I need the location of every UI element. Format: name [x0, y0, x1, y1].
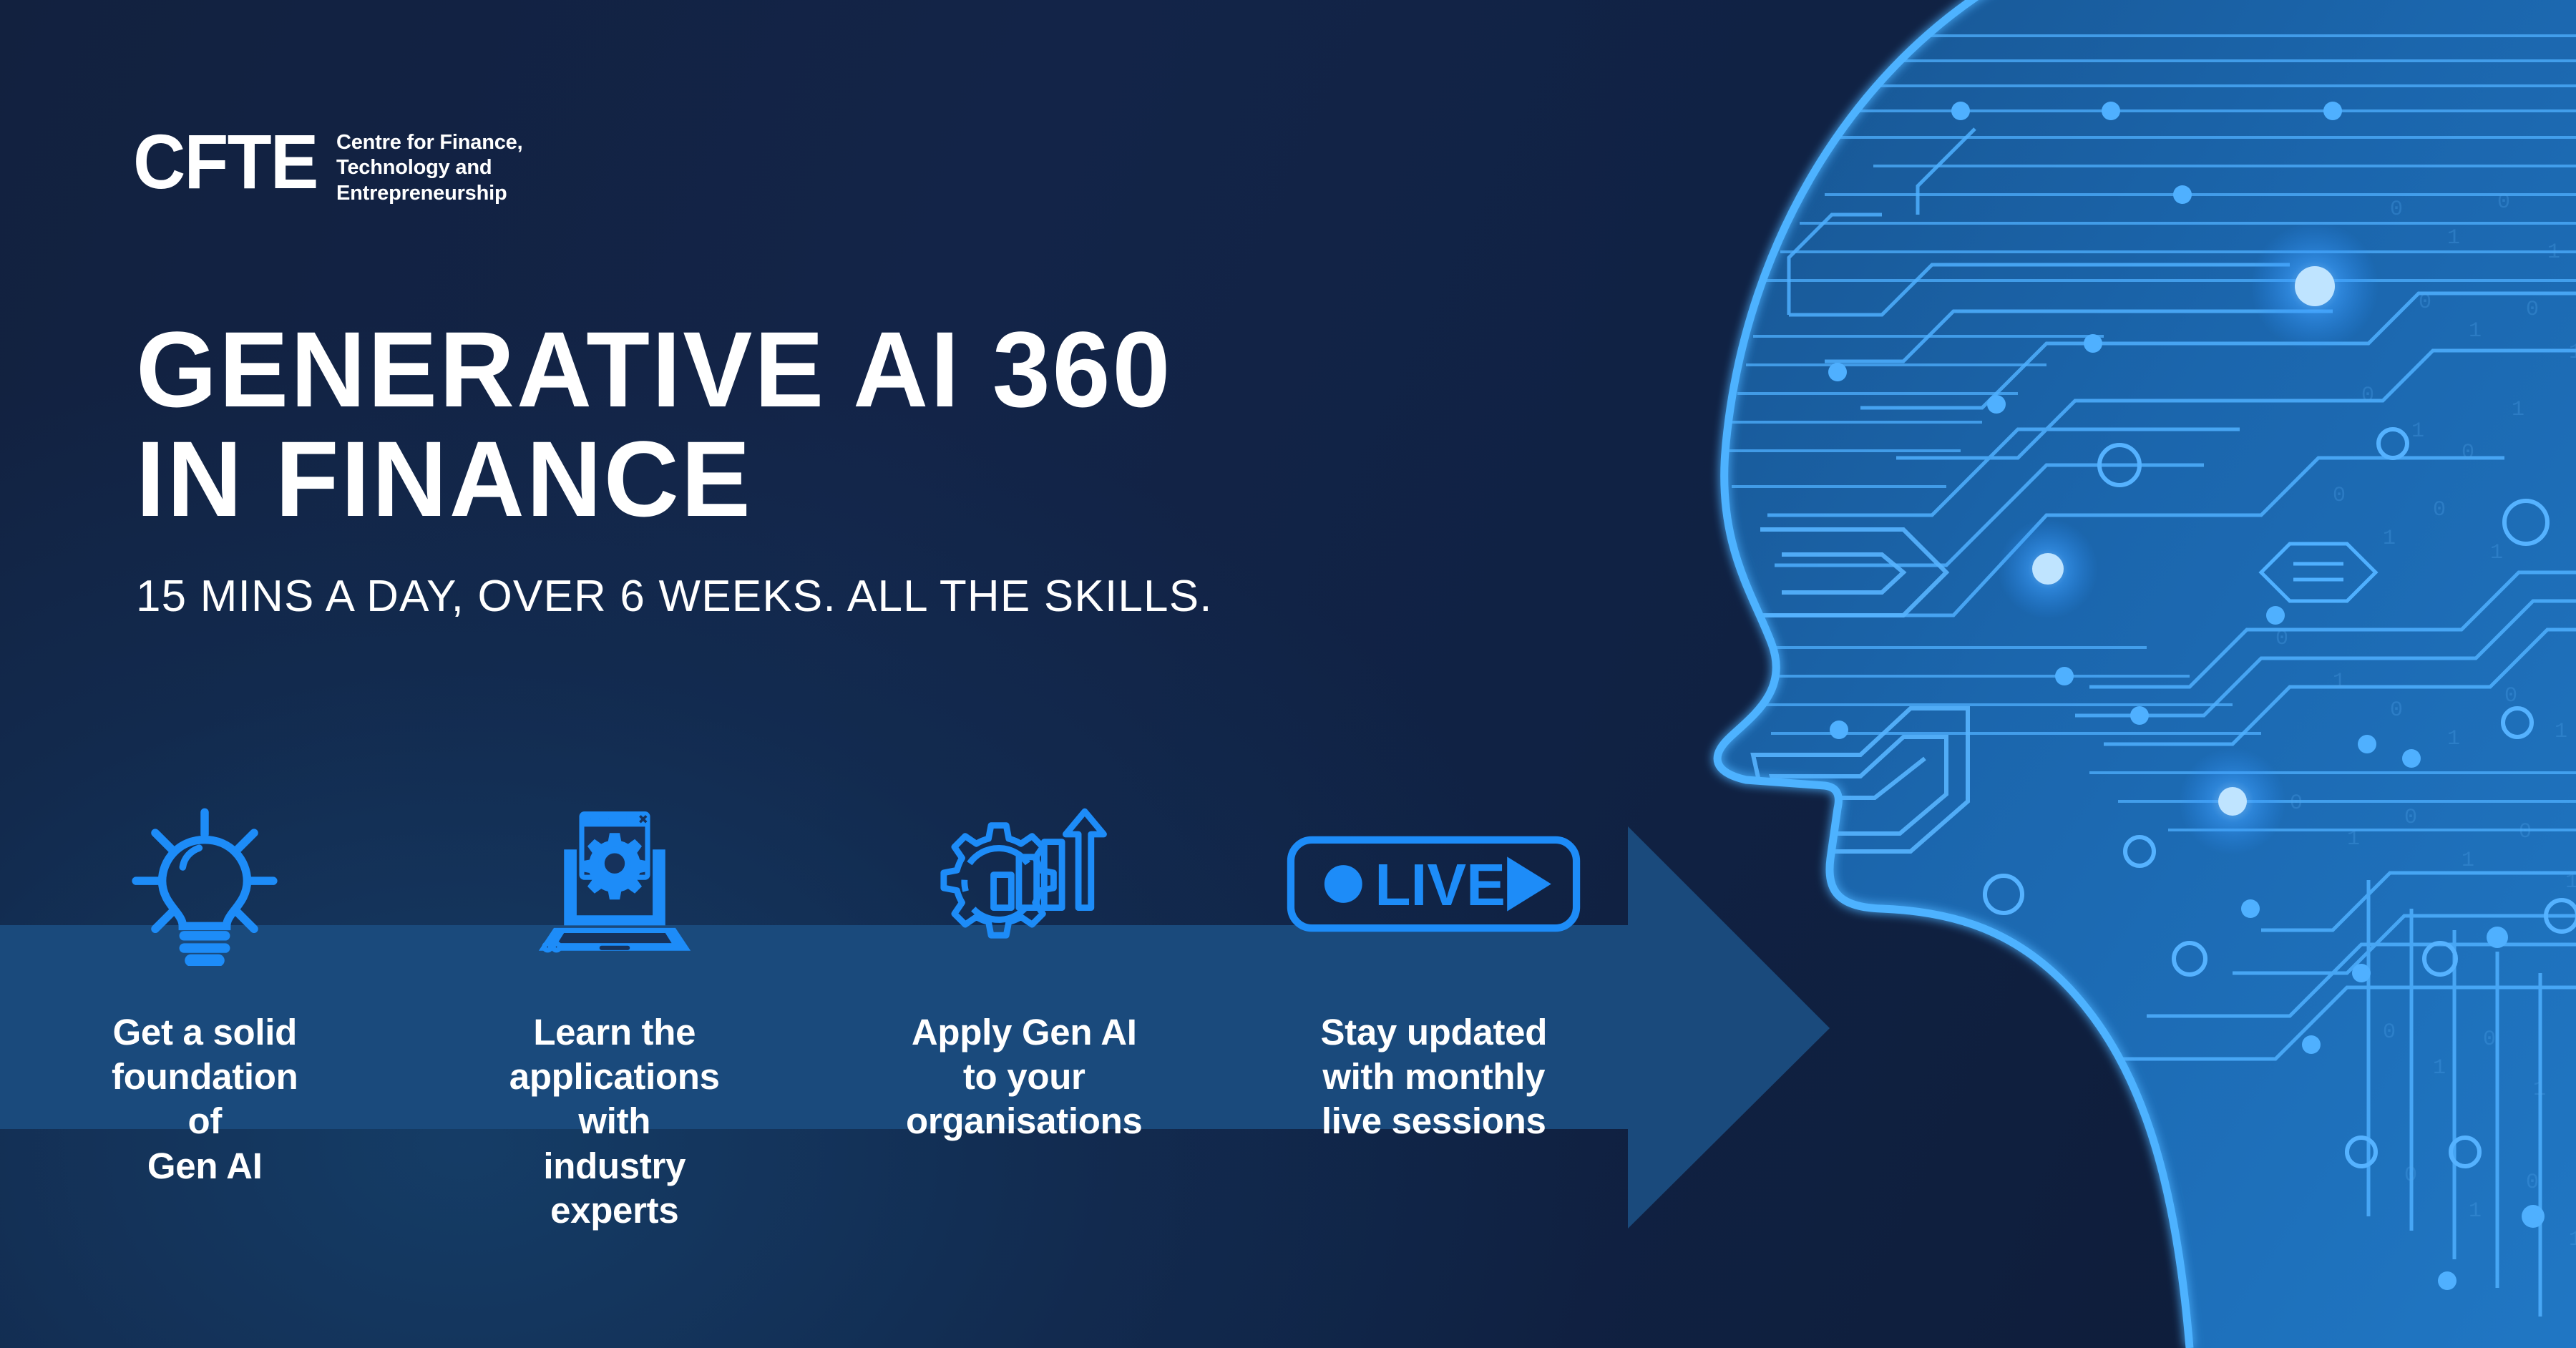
- svg-text:1: 1: [2462, 849, 2474, 873]
- cfte-logo[interactable]: CFTE Centre for Finance, Technology and …: [133, 126, 522, 206]
- feature-item-apply: Apply Gen AI to your organisations: [819, 801, 1229, 1233]
- svg-text:0: 0: [2361, 384, 2374, 408]
- feature-item-foundation: Get a solid foundation of Gen AI: [0, 801, 410, 1233]
- svg-text:1: 1: [2547, 240, 2560, 265]
- svg-text:0: 0: [2275, 627, 2288, 651]
- svg-text:0: 0: [2526, 298, 2539, 322]
- page-subtitle: 15 MINS A DAY, OVER 6 WEEKS. ALL THE SKI…: [136, 571, 1213, 622]
- feature-label-live: Stay updated with monthly live sessions: [1320, 1010, 1547, 1144]
- live-badge-icon: LIVE: [1285, 801, 1582, 966]
- logo-tagline: Centre for Finance, Technology and Entre…: [336, 126, 522, 206]
- svg-text:0: 0: [2504, 684, 2517, 708]
- svg-text:1: 1: [2347, 827, 2360, 851]
- svg-text:1: 1: [2569, 341, 2576, 365]
- lightbulb-icon: [122, 801, 287, 966]
- play-triangle-icon: [1507, 856, 1551, 911]
- svg-text:0: 0: [2433, 498, 2446, 522]
- gear-bar-chart-growth-icon: [935, 801, 1113, 966]
- svg-text:0: 0: [2526, 1171, 2539, 1195]
- feature-label-apply: Apply Gen AI to your organisations: [906, 1010, 1143, 1144]
- logo-tagline-line2: Technology and: [336, 155, 522, 180]
- promo-banner: 01 01 01 01 01 01 01 01 01 01 01 01 01 0…: [0, 0, 2576, 1348]
- head-silhouette: 01 01 01 01 01 01 01 01 01 01 01 01 01 0…: [1646, 0, 2576, 1348]
- feature-label-foundation: Get a solid foundation of Gen AI: [90, 1010, 319, 1188]
- svg-text:0: 0: [2483, 1027, 2496, 1052]
- svg-text:1: 1: [2333, 670, 2346, 694]
- svg-text:0: 0: [2462, 441, 2474, 465]
- laptop-gear-icon: [525, 801, 704, 966]
- live-badge-text: LIVE: [1375, 852, 1506, 917]
- svg-text:1: 1: [2512, 398, 2524, 422]
- svg-text:0: 0: [2390, 698, 2403, 723]
- svg-text:1: 1: [2411, 419, 2424, 444]
- svg-text:1: 1: [2469, 319, 2482, 343]
- svg-text:1: 1: [2569, 1228, 2576, 1252]
- svg-text:1: 1: [2565, 870, 2576, 894]
- logo-wordmark: CFTE: [133, 126, 318, 197]
- logo-tagline-line1: Centre for Finance,: [336, 130, 522, 155]
- page-title-line-1: GENERATIVE AI 360: [136, 315, 1181, 424]
- svg-text:0: 0: [2419, 290, 2431, 315]
- svg-text:0: 0: [2290, 791, 2303, 816]
- svg-text:1: 1: [2447, 226, 2460, 250]
- svg-text:0: 0: [2497, 190, 2510, 215]
- headline-block: GENERATIVE AI 360 IN FINANCE 15 MINS A D…: [136, 315, 1213, 622]
- feature-item-applications: Learn the applications with industry exp…: [410, 801, 820, 1233]
- page-title-line-2: IN FINANCE: [136, 424, 1181, 534]
- feature-item-live: LIVE Stay updated with monthly live sess…: [1229, 801, 1639, 1233]
- svg-text:0: 0: [2519, 820, 2532, 844]
- svg-text:0: 0: [2333, 484, 2346, 508]
- svg-text:1: 1: [2469, 1199, 2482, 1224]
- feature-list: Get a solid foundation of Gen AI: [0, 801, 1639, 1233]
- svg-text:0: 0: [2404, 806, 2417, 830]
- svg-text:0: 0: [2383, 1020, 2396, 1045]
- ai-circuit-head-graphic: 01 01 01 01 01 01 01 01 01 01 01 01 01 0…: [1646, 0, 2576, 1348]
- svg-text:1: 1: [2490, 541, 2503, 565]
- ai-head-svg: 01 01 01 01 01 01 01 01 01 01 01 01 01 0…: [1646, 0, 2576, 1348]
- live-record-dot-icon: [1324, 865, 1362, 903]
- svg-text:1: 1: [2447, 727, 2460, 751]
- feature-label-applications: Learn the applications with industry exp…: [482, 1010, 747, 1233]
- svg-text:0: 0: [2404, 1163, 2417, 1188]
- svg-text:1: 1: [2383, 527, 2396, 551]
- svg-text:0: 0: [2390, 197, 2403, 222]
- svg-text:1: 1: [2433, 1056, 2446, 1080]
- svg-text:1: 1: [2555, 720, 2567, 744]
- logo-tagline-line3: Entrepreneurship: [336, 181, 522, 206]
- svg-text:1: 1: [2533, 1078, 2546, 1102]
